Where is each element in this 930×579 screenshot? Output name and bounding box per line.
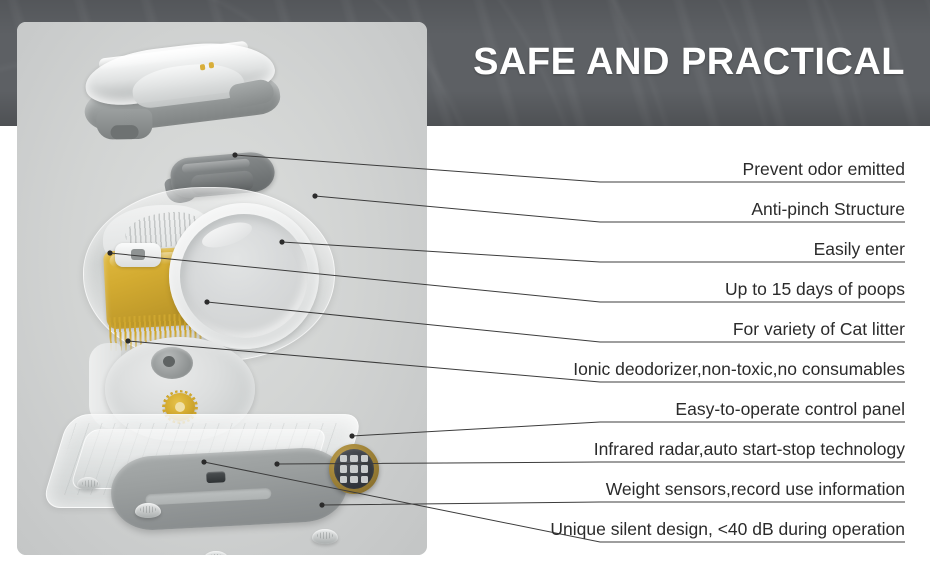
keypad-key <box>350 465 357 472</box>
weight-sensor-foot-pad <box>312 529 338 544</box>
keypad-key <box>361 476 368 483</box>
top-hood-shell-part <box>73 28 289 157</box>
callout-label-control: Easy-to-operate control panel <box>675 399 905 419</box>
keypad-key <box>340 465 347 472</box>
front-housing-slot <box>145 488 271 506</box>
callout-label-deodorizer: Ionic deodorizer,non-toxic,no consumable… <box>573 359 905 379</box>
infrared-radar-sensor <box>206 471 226 483</box>
weight-sensor-foot-pad <box>135 503 161 518</box>
keypad-key <box>340 476 347 483</box>
callout-label-anti-pinch: Anti-pinch Structure <box>751 199 905 219</box>
hood-gold-contact-b <box>209 62 215 69</box>
control-panel-keypad <box>340 455 368 483</box>
circular-control-panel <box>329 444 379 494</box>
keypad-key <box>340 455 347 462</box>
weight-sensor-foot-pad <box>77 477 99 490</box>
drum-latch <box>115 243 161 267</box>
keypad-key <box>350 455 357 462</box>
callout-label-silent: Unique silent design, <40 dB during oper… <box>550 519 905 539</box>
callout-label-easy-enter: Easily enter <box>814 239 905 259</box>
keypad-key <box>361 465 368 472</box>
hood-gold-contact-a <box>200 64 206 71</box>
keypad-key <box>361 455 368 462</box>
callout-label-weight: Weight sensors,record use information <box>606 479 905 499</box>
callout-label-capacity: Up to 15 days of poops <box>725 279 905 299</box>
hub-motor-core <box>151 347 193 379</box>
exploded-product-render <box>17 22 427 555</box>
callout-label-radar: Infrared radar,auto start-stop technolog… <box>594 439 905 459</box>
callout-leader-line-control <box>352 422 905 436</box>
callout-label-odor: Prevent odor emitted <box>743 159 905 179</box>
front-control-housing <box>109 446 349 532</box>
page-title: SAFE AND PRACTICAL <box>473 40 905 84</box>
product-feature-infographic: SAFE AND PRACTICAL <box>0 0 930 579</box>
keypad-key <box>350 476 357 483</box>
transparent-drum-globe-part <box>83 187 333 362</box>
hood-front-hinge <box>96 109 153 140</box>
callout-label-litter: For variety of Cat litter <box>733 319 905 339</box>
product-image-panel <box>17 22 427 555</box>
